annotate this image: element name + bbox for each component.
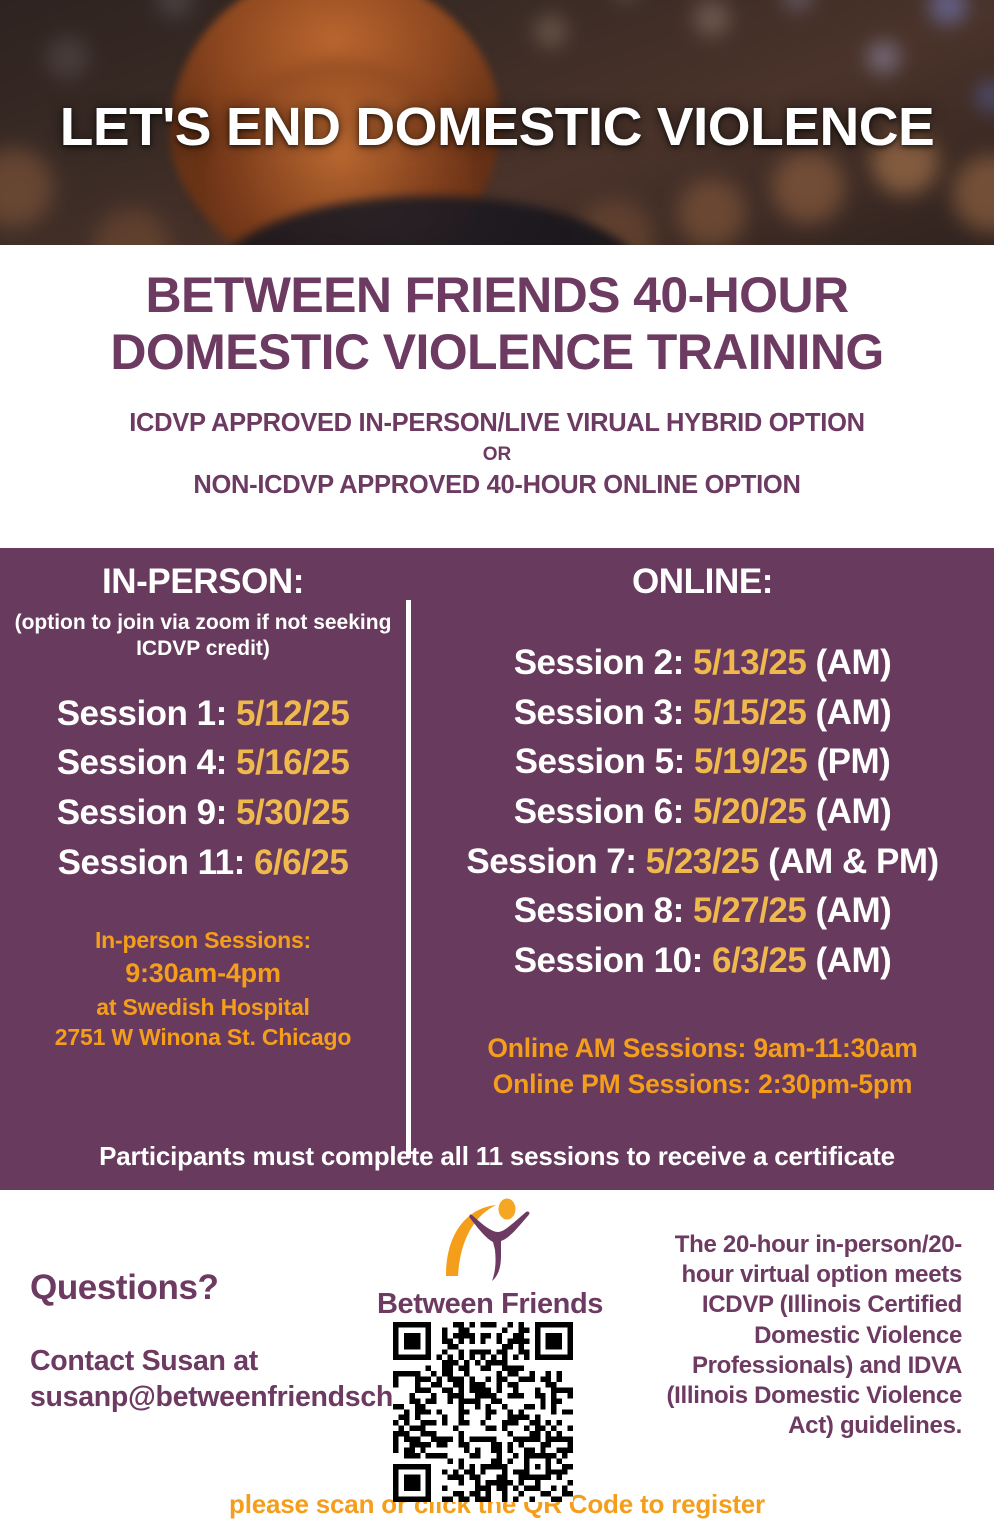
title-block: BETWEEN FRIENDS 40-HOUR DOMESTIC VIOLENC… <box>0 245 994 503</box>
session-row: Session 5: 5/19/25 (PM) <box>419 737 986 787</box>
session-row: Session 11: 6/6/25 <box>12 838 394 888</box>
session-row: Session 8: 5/27/25 (AM) <box>419 886 986 936</box>
contact-body: Contact Susan at susanp@betweenfriendsch… <box>30 1344 360 1416</box>
hero-headline: LET'S END DOMESTIC VIOLENCE <box>0 96 994 158</box>
session-label: Session 10: <box>514 941 703 980</box>
in-person-note: (option to join via zoom if not seeking … <box>12 610 394 663</box>
session-row: Session 6: 5/20/25 (AM) <box>419 787 986 837</box>
session-row: Session 2: 5/13/25 (AM) <box>419 638 986 688</box>
brand-block: Between Friends <box>340 1198 640 1321</box>
brand-name: Between Friends <box>340 1288 640 1321</box>
session-date: 5/13/25 <box>693 643 806 682</box>
subtitle-or: OR <box>14 441 980 470</box>
session-label: Session 9: <box>57 793 227 832</box>
in-person-times-label: In-person Sessions: <box>12 925 394 956</box>
in-person-address: 2751 W Winona St. Chicago <box>12 1022 394 1053</box>
session-label: Session 1: <box>57 694 227 733</box>
online-session-list: Session 2: 5/13/25 (AM) Session 3: 5/15/… <box>419 638 986 986</box>
session-ampm: (PM) <box>817 742 891 781</box>
session-label: Session 3: <box>514 693 684 732</box>
in-person-heading: IN-PERSON: <box>12 562 394 602</box>
in-person-venue: at Swedish Hospital <box>12 992 394 1023</box>
session-date: 6/6/25 <box>254 843 348 882</box>
online-am-times: Online AM Sessions: 9am-11:30am <box>419 1030 986 1066</box>
session-ampm: (AM) <box>816 891 892 930</box>
hero-banner: LET'S END DOMESTIC VIOLENCE <box>0 0 994 245</box>
online-pm-times: Online PM Sessions: 2:30pm-5pm <box>419 1066 986 1102</box>
page-title-line1: BETWEEN FRIENDS 40-HOUR <box>146 267 849 323</box>
icdvp-note: The 20-hour in-person/20-hour virtual op… <box>632 1230 962 1442</box>
session-date: 5/16/25 <box>236 743 349 782</box>
session-label: Session 5: <box>515 742 685 781</box>
session-row: Session 1: 5/12/25 <box>12 689 394 739</box>
online-column: ONLINE: Session 2: 5/13/25 (AM) Session … <box>411 548 994 1102</box>
session-label: Session 11: <box>58 843 245 882</box>
session-row: Session 10: 6/3/25 (AM) <box>419 936 986 986</box>
in-person-session-list: Session 1: 5/12/25 Session 4: 5/16/25 Se… <box>12 689 394 888</box>
session-date: 5/20/25 <box>693 792 806 831</box>
session-ampm: (AM) <box>816 792 892 831</box>
page-title: BETWEEN FRIENDS 40-HOUR DOMESTIC VIOLENC… <box>0 245 994 381</box>
session-date: 5/12/25 <box>236 694 349 733</box>
session-ampm: (AM & PM) <box>768 842 938 881</box>
session-ampm: (AM) <box>816 693 892 732</box>
session-label: Session 8: <box>514 891 684 930</box>
subtitle-block: ICDVP APPROVED IN-PERSON/LIVE VIRUAL HYB… <box>0 381 994 503</box>
session-label: Session 2: <box>514 643 684 682</box>
session-date: 5/23/25 <box>646 842 759 881</box>
contact-heading: Questions? <box>30 1268 360 1308</box>
online-times-block: Online AM Sessions: 9am-11:30am Online P… <box>419 1030 986 1102</box>
session-ampm: (AM) <box>816 643 892 682</box>
session-label: Session 4: <box>57 743 227 782</box>
subtitle-line-2: NON-ICDVP APPROVED 40-HOUR ONLINE OPTION <box>14 469 980 503</box>
in-person-times-value: 9:30am-4pm <box>12 956 394 992</box>
page-title-line2: DOMESTIC VIOLENCE TRAINING <box>24 324 970 381</box>
session-label: Session 6: <box>514 792 684 831</box>
session-date: 6/3/25 <box>712 941 806 980</box>
session-row: Session 4: 5/16/25 <box>12 738 394 788</box>
session-ampm: (AM) <box>816 941 892 980</box>
session-row: Session 9: 5/30/25 <box>12 788 394 838</box>
session-date: 5/19/25 <box>694 742 807 781</box>
session-row: Session 7: 5/23/25 (AM & PM) <box>419 837 986 887</box>
session-date: 5/15/25 <box>693 693 806 732</box>
in-person-column: IN-PERSON: (option to join via zoom if n… <box>0 548 406 1053</box>
session-row: Session 3: 5/15/25 (AM) <box>419 688 986 738</box>
schedule-panel: IN-PERSON: (option to join via zoom if n… <box>0 548 994 1190</box>
flyer-root: LET'S END DOMESTIC VIOLENCE BETWEEN FRIE… <box>0 0 994 1536</box>
in-person-times-block: In-person Sessions: 9:30am-4pm at Swedis… <box>12 925 394 1053</box>
session-label: Session 7: <box>466 842 636 881</box>
between-friends-figure-logo-icon <box>438 1198 542 1284</box>
qr-code[interactable] <box>393 1322 573 1502</box>
session-date: 5/30/25 <box>236 793 349 832</box>
subtitle-line-1: ICDVP APPROVED IN-PERSON/LIVE VIRUAL HYB… <box>14 407 980 441</box>
online-heading: ONLINE: <box>419 562 986 602</box>
session-date: 5/27/25 <box>693 891 806 930</box>
contact-block: Questions? Contact Susan at susanp@betwe… <box>30 1268 360 1416</box>
panel-footnote: Participants must complete all 11 sessio… <box>0 1141 994 1172</box>
